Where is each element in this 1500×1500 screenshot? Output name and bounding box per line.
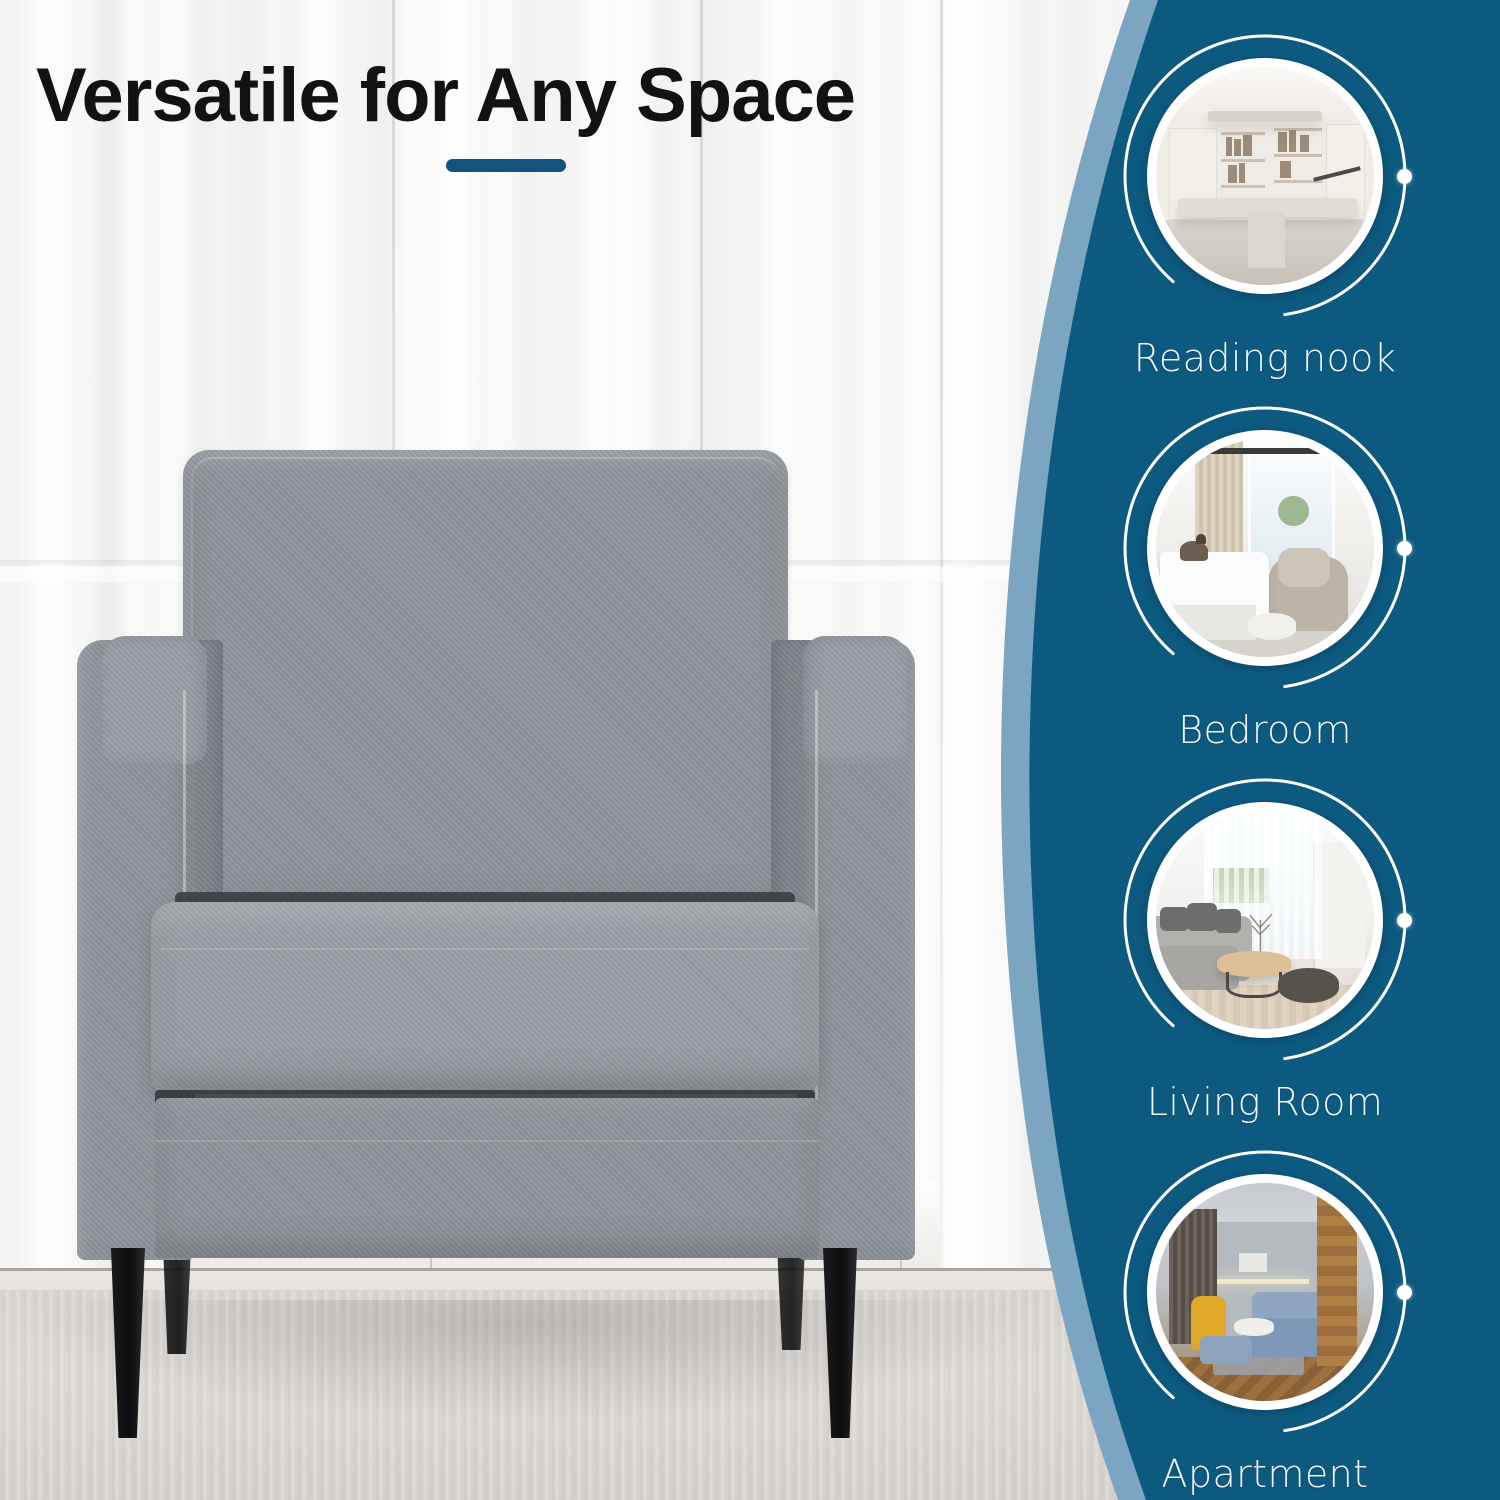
product-feature-graphic: Versatile for Any Space (0, 0, 1500, 1500)
use-case-tile-bedroom[interactable]: Bedroom (1100, 404, 1430, 752)
ring-marker-dot-icon (1397, 913, 1412, 928)
chair-armrest-top-left (103, 636, 207, 764)
ring-marker-dot-icon (1397, 169, 1412, 184)
chair-leg-back-left (163, 1246, 191, 1354)
armchair (55, 440, 955, 1440)
use-case-thumbnail-reading-nook (1147, 58, 1383, 294)
use-case-label-apartment: Apartment (1100, 1452, 1430, 1496)
title-accent-underline (446, 159, 566, 172)
chair-leg-front-left (111, 1248, 145, 1438)
use-case-label-living-room: Living Room (1100, 1080, 1430, 1124)
chair-armrest-top-right (803, 636, 907, 764)
use-case-tile-living-room[interactable]: Living Room (1100, 776, 1430, 1124)
use-case-tile-apartment[interactable]: Apartment (1100, 1148, 1430, 1496)
chair-back-cushion (183, 450, 788, 920)
chair-seat-cushion (151, 902, 819, 1094)
ring-marker-dot-icon (1397, 541, 1412, 556)
chair-leg-front-right (823, 1248, 857, 1438)
use-case-thumbnail-bedroom (1147, 430, 1383, 666)
use-case-thumbnail-apartment (1147, 1174, 1383, 1410)
use-case-label-reading-nook: Reading nook (1100, 336, 1430, 380)
chair-base-seam (155, 1140, 819, 1142)
use-case-tile-reading-nook[interactable]: Reading nook (1100, 32, 1430, 380)
chair-base-skirt (155, 1098, 819, 1258)
use-case-label-bedroom: Bedroom (1100, 708, 1430, 752)
use-case-thumbnail-living-room (1147, 802, 1383, 1038)
branch-decor-icon (1243, 898, 1278, 955)
chair-leg-back-right (777, 1246, 805, 1350)
page-title: Versatile for Any Space (36, 56, 1076, 136)
use-case-panel: Reading nook (940, 0, 1500, 1500)
ring-marker-dot-icon (1397, 1285, 1412, 1300)
